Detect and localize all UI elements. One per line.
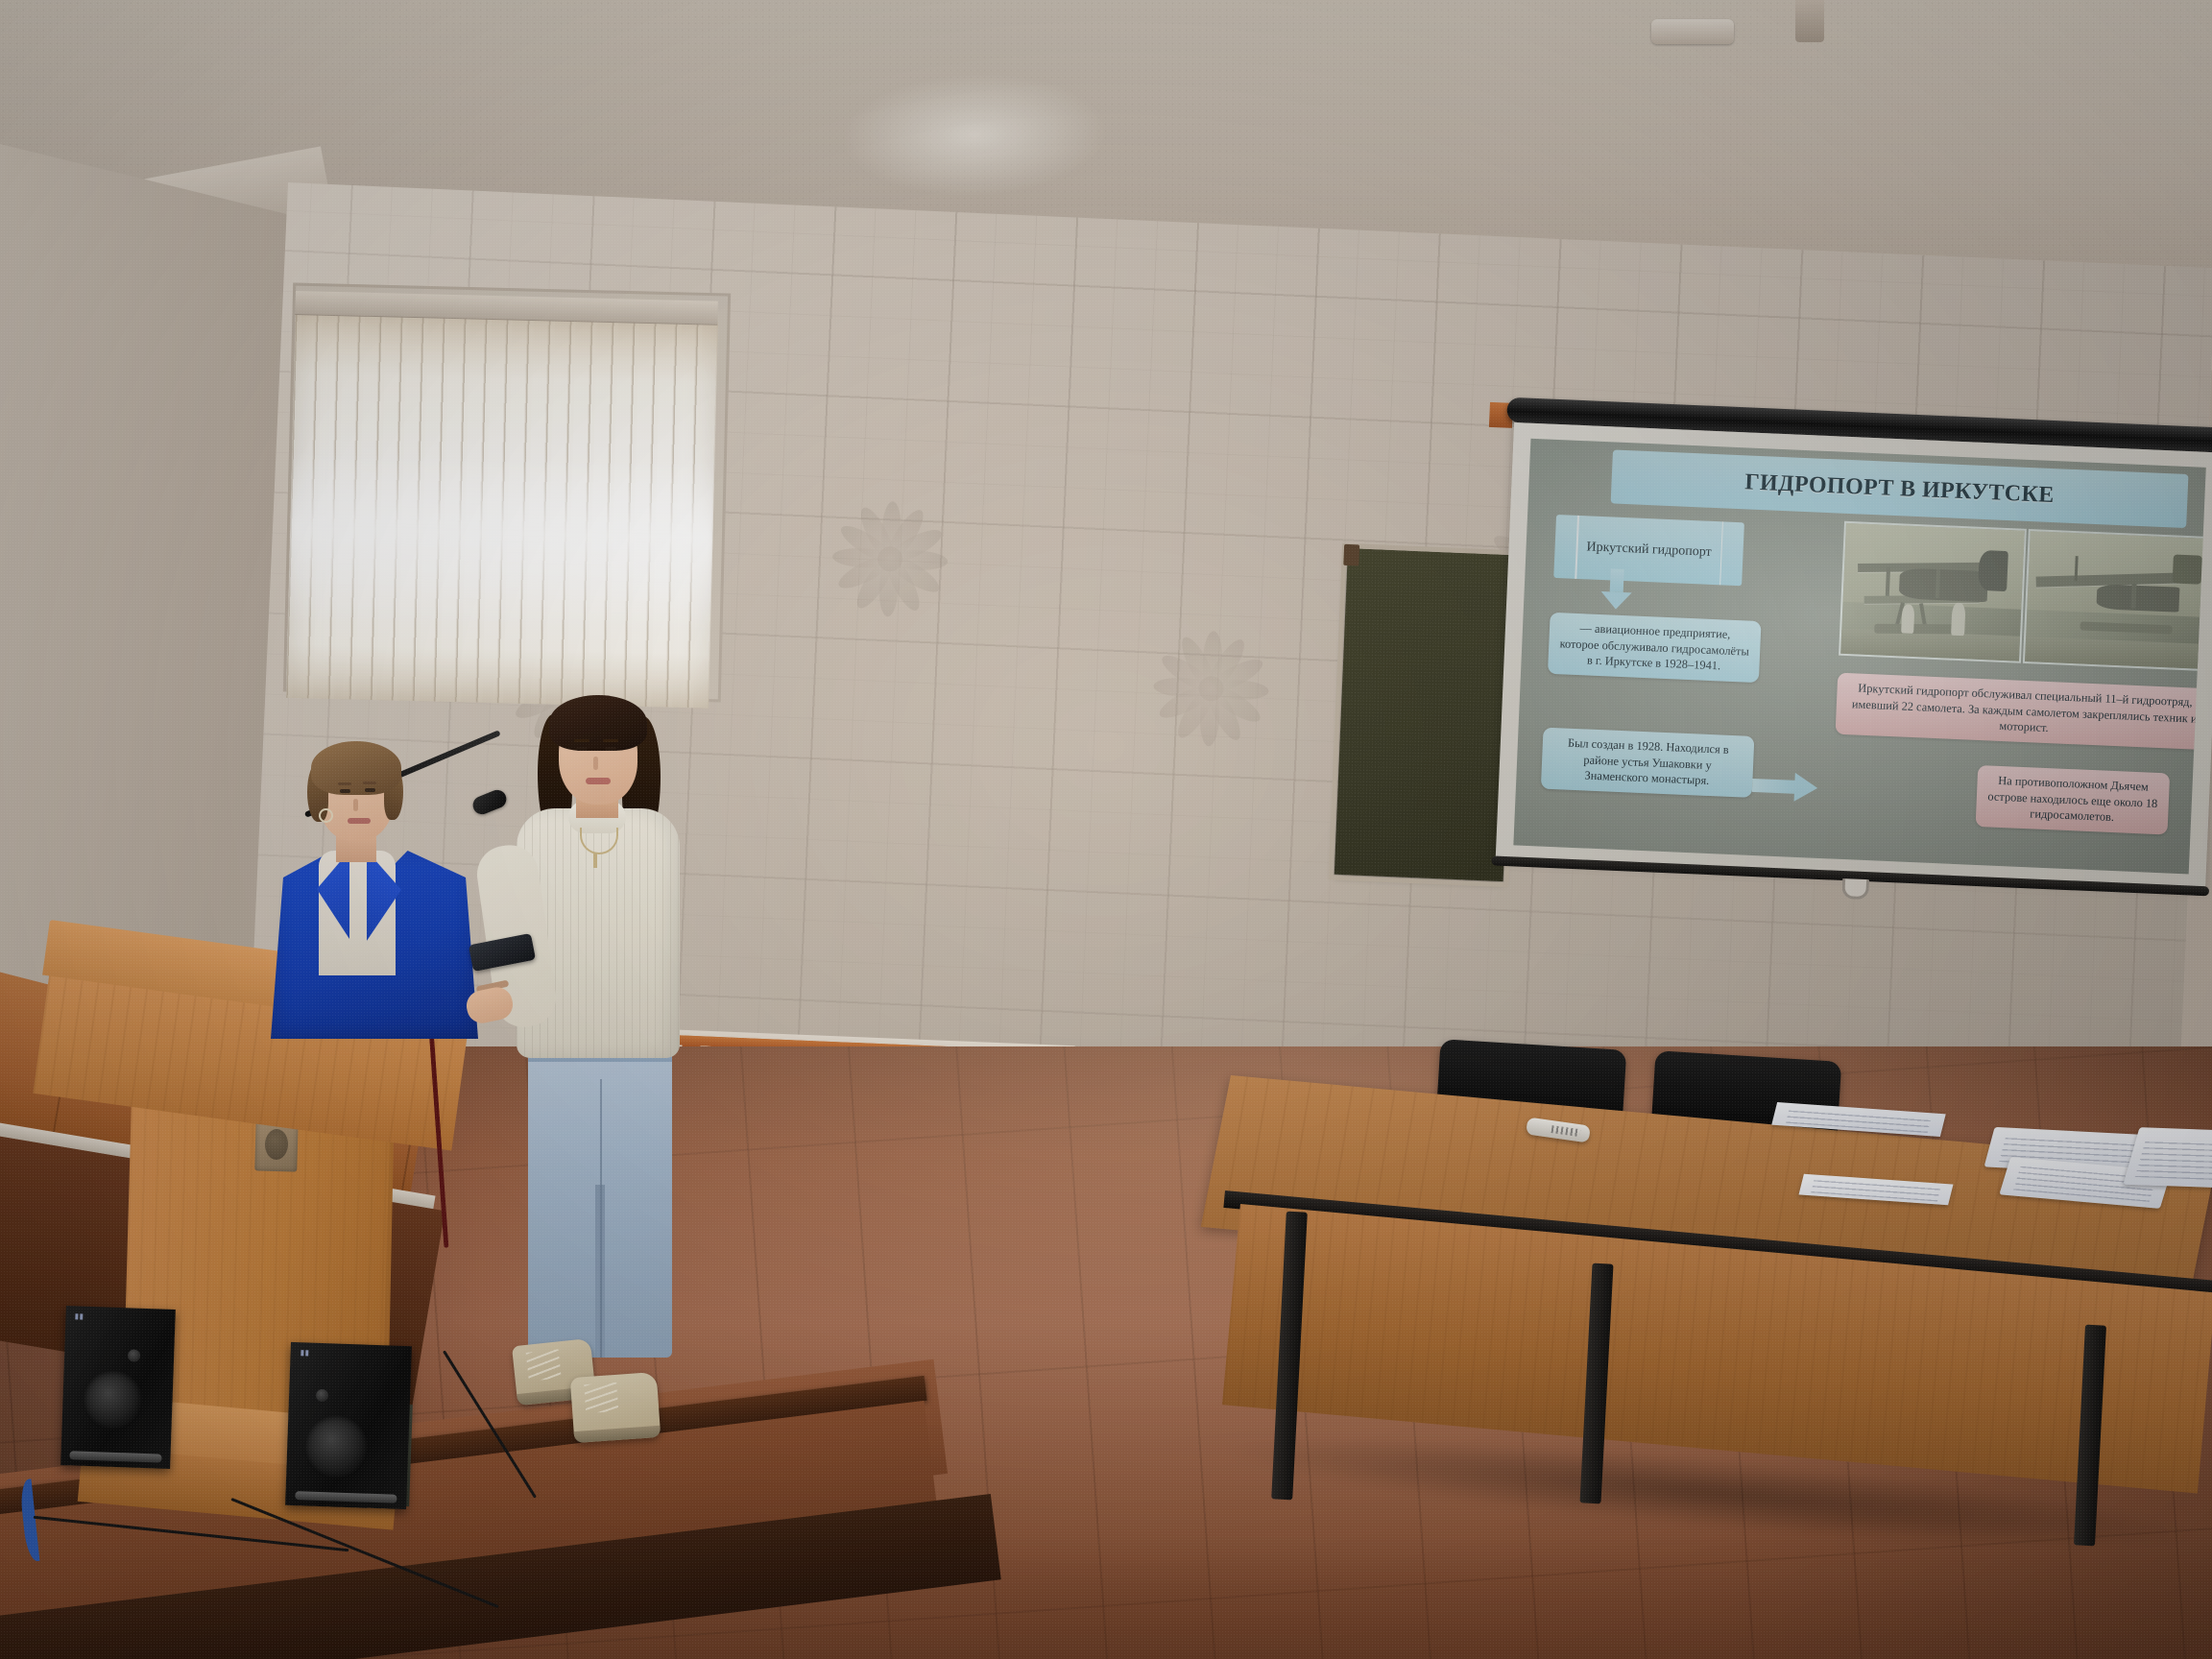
ceiling-bracket-icon [1795, 0, 1824, 42]
presenter-left-brow-right [363, 781, 376, 784]
slide-photo-2 [2023, 529, 2206, 671]
chalkboard-clip-icon [1343, 544, 1359, 566]
window-daylight-glow [288, 451, 714, 632]
presenter-right-brow-left [574, 739, 589, 742]
presenter-right-hair-top [549, 695, 647, 751]
presenter-right-nose [593, 757, 598, 770]
slide-definition-box: — авиационное предприятие, которое обслу… [1548, 613, 1762, 684]
presenter-left-eye-left [340, 789, 350, 793]
presentation-slide: ГИДРОПОРТ В ИРКУТСКЕ Иркутский гидропорт… [1513, 439, 2205, 875]
audio-speaker-left: ▮▮ [60, 1306, 176, 1469]
presenter-right-pendant-icon [593, 853, 597, 868]
lecture-hall-photo: ГИДРОПОРТ В ИРКУТСКЕ Иркутский гидропорт… [0, 0, 2212, 1659]
paper-sheet-3[interactable] [2124, 1127, 2212, 1189]
speaker-brand-label: ▮▮ [75, 1311, 84, 1320]
speaker-brand-label-2: ▮▮ [301, 1348, 310, 1357]
presenter-left-brow-left [338, 782, 351, 785]
slide-title-bar: ГИДРОПОРТ В ИРКУТСКЕ [1611, 449, 2189, 528]
boot-laces-left-icon [526, 1349, 562, 1381]
presenter-right [509, 701, 691, 1450]
screen-hook-icon[interactable] [1841, 878, 1869, 900]
presenter-right-mouth [586, 778, 611, 784]
slide-created-box: Был создан в 1928. Находился в районе ус… [1541, 728, 1755, 799]
presenter-right-boot-right [570, 1372, 661, 1443]
header-box-divider-left [1575, 516, 1578, 579]
boot-laces-right-icon [584, 1382, 618, 1413]
presenter-left [265, 749, 486, 1094]
arrow-right-icon [1752, 771, 1820, 803]
chalkboard [1334, 548, 1517, 881]
presenter-left-mouth [348, 818, 371, 824]
screen-canvas: ГИДРОПОРТ В ИРКУТСКЕ Иркутский гидропорт… [1496, 422, 2212, 889]
header-box-divider-right [1719, 521, 1723, 585]
presenter-right-brow-right [603, 739, 618, 742]
slide-header-text: Иркутский гидропорт [1586, 539, 1712, 562]
audio-speaker-right: ▮▮ [285, 1342, 412, 1509]
presenter-left-hair-top [311, 741, 401, 795]
ceiling-light-panel [843, 70, 1106, 199]
ceiling-vent-icon [1651, 19, 1734, 44]
presenter-left-earring-icon [319, 808, 333, 823]
presenter-left-eye-right [365, 788, 375, 792]
slide-header-box: Иркутский гидропорт [1553, 515, 1744, 586]
window-blinds[interactable] [286, 312, 718, 709]
slide-red-box-2: На противоположном Дьячем острове находи… [1976, 765, 2171, 835]
presenter-right-jeans [528, 1041, 672, 1358]
projection-screen[interactable]: ГИДРОПОРТ В ИРКУТСКЕ Иркутский гидропорт… [1494, 403, 2212, 932]
presenter-left-nose [353, 799, 358, 811]
slide-photo-1 [1839, 521, 2027, 663]
slide-red-box-1: Иркутский гидропорт обслуживал специальн… [1836, 673, 2206, 751]
presenter-right-eye-left [576, 747, 588, 751]
presenter-right-jeans-legsplit [595, 1185, 605, 1358]
chalkboard-texture [1334, 548, 1517, 881]
remote-buttons-icon [1551, 1125, 1581, 1137]
slide-title-text: ГИДРОПОРТ В ИРКУТСКЕ [1744, 469, 2055, 509]
podium-emblem-seal-icon [265, 1129, 289, 1161]
presenter-right-eye-right [605, 747, 616, 751]
